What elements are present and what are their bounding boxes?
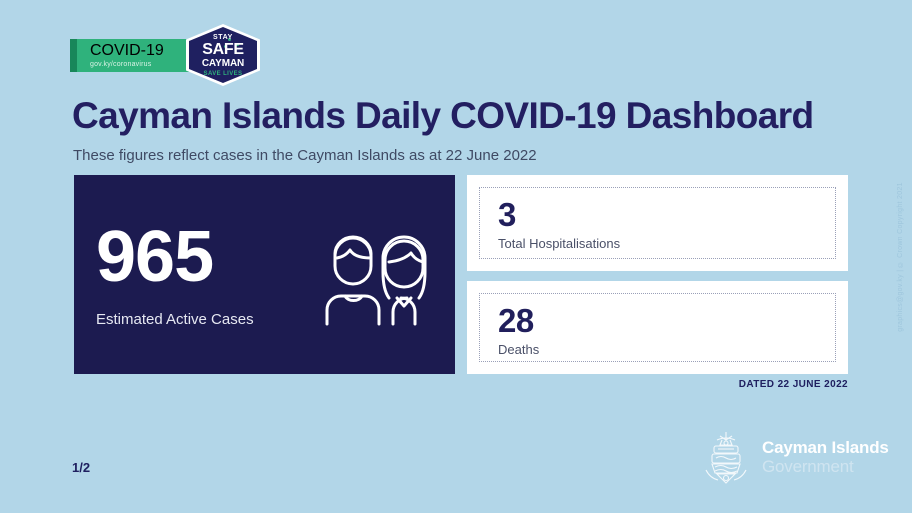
active-cases-card: 965 Estimated Active Cases <box>74 175 455 374</box>
deaths-card-inner: 28 Deaths <box>479 293 836 362</box>
stay-safe-cayman-badge: STAY SAFE CAYMAN SAVE LIVES <box>186 24 260 86</box>
active-cases-label: Estimated Active Cases <box>96 311 309 328</box>
badge-stay-text: STAY <box>213 34 233 41</box>
copyright-notice: graphics@gov.ky | © Crown Copyright 2021 <box>897 182 904 332</box>
hospitalisations-label: Total Hospitalisations <box>498 236 835 251</box>
brand-logo-row: COVID-19 gov.ky/coronavirus STAY SAFE CA… <box>70 24 260 86</box>
badge-safe-text: SAFE <box>202 42 243 58</box>
dated-line: DATED 22 JUNE 2022 <box>739 379 848 390</box>
active-cases-text-group: 965 Estimated Active Cases <box>74 221 309 328</box>
deaths-value: 28 <box>498 304 835 338</box>
gov-logo-line1: Cayman Islands <box>762 439 889 458</box>
deaths-label: Deaths <box>498 342 835 357</box>
hospitalisations-card-inner: 3 Total Hospitalisations <box>479 187 836 259</box>
gov-logo-text: Cayman Islands Government <box>762 439 889 476</box>
covid-19-badge: COVID-19 gov.ky/coronavirus <box>70 39 202 72</box>
deaths-card: 28 Deaths <box>467 281 848 374</box>
hospitalisations-value: 3 <box>498 198 835 232</box>
page-title: Cayman Islands Daily COVID-19 Dashboard <box>72 95 814 137</box>
gov-logo-line2: Government <box>762 458 889 477</box>
page-subtitle: These figures reflect cases in the Cayma… <box>73 147 537 164</box>
page-number: 1/2 <box>72 460 90 475</box>
badge-save-lives-text: SAVE LIVES <box>204 71 243 77</box>
hexagon-badge-text: STAY SAFE CAYMAN SAVE LIVES <box>186 24 260 86</box>
active-cases-value: 965 <box>96 221 309 293</box>
two-people-icon <box>309 220 439 330</box>
cayman-islands-government-logo: Cayman Islands Government <box>700 430 889 486</box>
coat-of-arms-crest-icon <box>700 430 752 486</box>
badge-cayman-text: CAYMAN <box>202 59 244 69</box>
hospitalisations-card: 3 Total Hospitalisations <box>467 175 848 271</box>
